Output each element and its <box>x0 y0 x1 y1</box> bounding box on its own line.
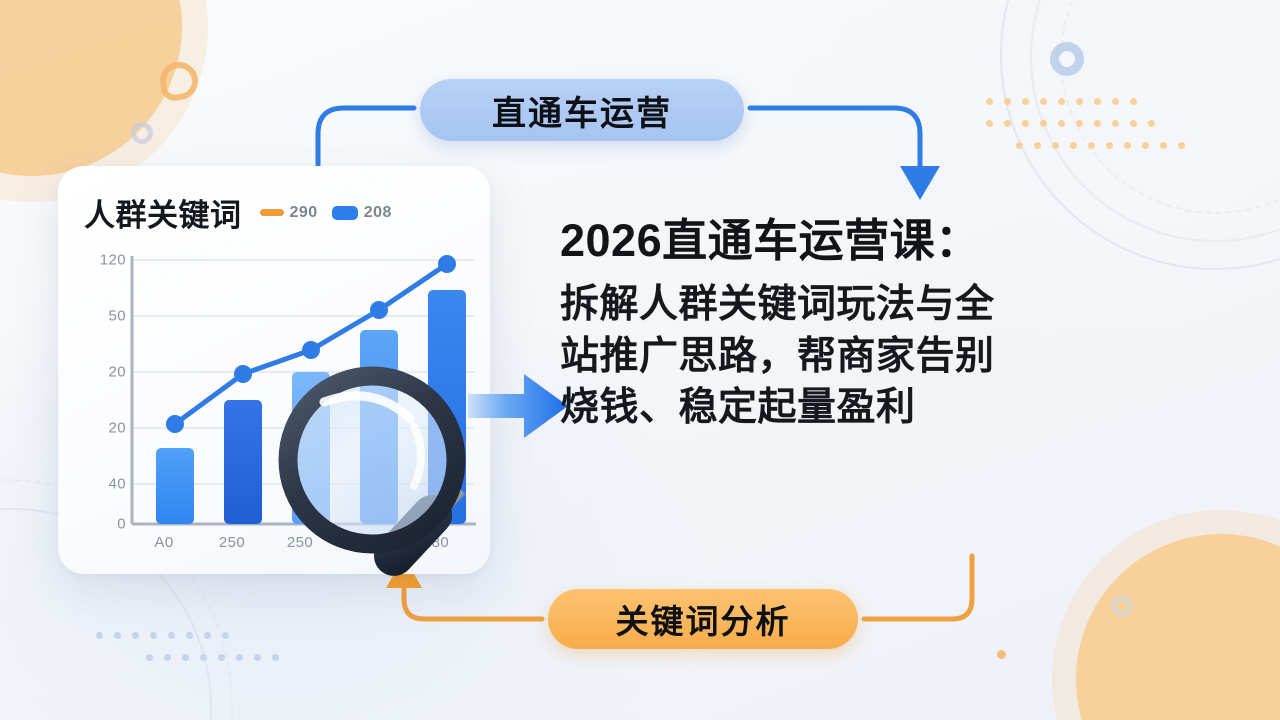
x-tick-1: 250 <box>198 534 266 551</box>
chart-legend: 290 208 <box>260 204 392 222</box>
decor-ring-gray-icon <box>131 122 153 144</box>
legend-label-bar: 208 <box>364 204 392 222</box>
arrow-down-icon <box>900 166 940 200</box>
y-tick-0: 120 <box>100 252 126 269</box>
badge-bottom-label[interactable]: 关键词分析 <box>548 589 858 649</box>
headline-sub-line-2: 站推广思路，帮商家告别 <box>560 331 1246 382</box>
headline-sub-line-1: 拆解人群关键词玩法与全 <box>560 279 1246 330</box>
decor-ring-blue-icon <box>1050 42 1084 76</box>
legend-item-line: 290 <box>260 204 318 222</box>
decor-ring-orange-icon <box>158 60 201 103</box>
decor-ring-blue-small-icon <box>1112 596 1132 616</box>
poster-canvas: 人群关键词 290 208 120 50 20 20 40 0 <box>0 0 1280 720</box>
chart-y-axis: 120 50 20 20 40 0 <box>74 252 126 524</box>
decor-circle-bottom-right <box>1076 534 1280 720</box>
decor-dot-grid-orange-row3 <box>1016 142 1185 149</box>
legend-swatch-bar-icon <box>332 206 358 220</box>
decor-dot-grid-blue-row2 <box>146 654 279 661</box>
bar-0 <box>156 448 194 524</box>
legend-swatch-line-icon <box>260 209 284 216</box>
decor-dot-orange-icon <box>997 650 1006 659</box>
decor-dot-grid-blue-row1 <box>96 632 229 639</box>
legend-item-bar: 208 <box>332 204 392 222</box>
headline-block: 2026直通车运营课： 拆解人群关键词玩法与全 站推广思路，帮商家告别 烧钱、稳… <box>560 214 1246 434</box>
headline-main: 2026直通车运营课： <box>560 214 1246 267</box>
legend-label-line: 290 <box>290 204 318 222</box>
bar-1 <box>224 400 262 524</box>
chart-title: 人群关键词 <box>84 190 242 235</box>
decor-dot-grid-orange-row1 <box>986 98 1137 105</box>
badge-top-label[interactable]: 直通车运营 <box>420 79 744 141</box>
headline-sub: 拆解人群关键词玩法与全 站推广思路，帮商家告别 烧钱、稳定起量盈利 <box>560 279 1246 433</box>
decor-circle-top-left <box>0 0 182 176</box>
chart-header: 人群关键词 290 208 <box>84 190 472 235</box>
arrow-right-icon <box>466 368 570 444</box>
headline-sub-line-3: 烧钱、稳定起量盈利 <box>560 382 1246 433</box>
decor-dot-grid-orange-row2 <box>986 120 1155 127</box>
x-tick-0: A0 <box>130 534 198 551</box>
decor-arc-top-right-3 <box>1060 0 1280 214</box>
